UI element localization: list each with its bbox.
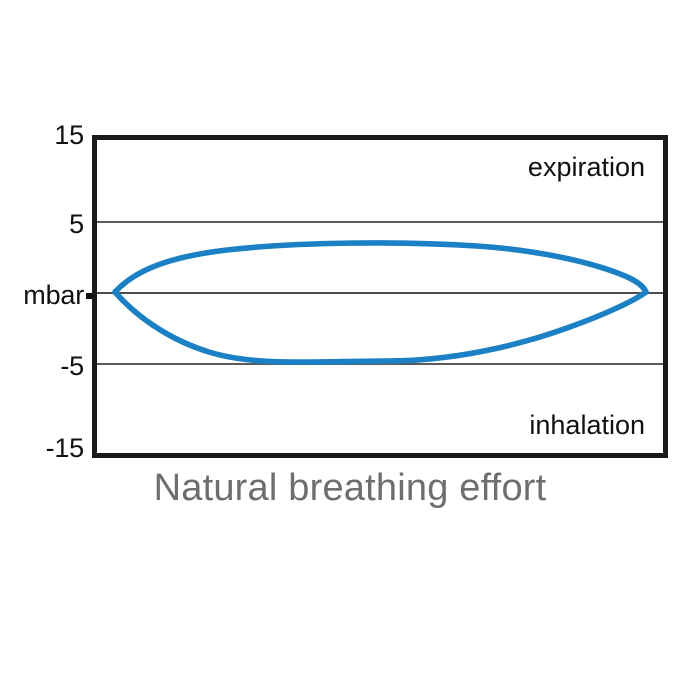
chart-caption: Natural breathing effort [0,466,700,510]
chart-canvas: 15 5 mbar -5 -15 expiration inhalation N… [0,0,700,700]
curve-lower-branch [115,292,646,362]
breathing-loop-curve [97,140,663,453]
annotation-expiration: expiration [528,154,645,181]
plot-area: expiration inhalation [92,135,668,458]
y-tick-label-mbar: mbar [23,282,84,309]
curve-upper-branch [115,243,646,292]
plot-inner: expiration inhalation [97,140,663,453]
y-tick-label-neg5: -5 [60,353,84,380]
y-tick-label-5: 5 [69,211,84,238]
y-axis-labels: 15 5 mbar -5 -15 [0,135,84,458]
annotation-inhalation: inhalation [529,412,645,439]
y-tick-label-neg15: -15 [46,435,84,462]
y-tick-label-15: 15 [54,122,84,149]
